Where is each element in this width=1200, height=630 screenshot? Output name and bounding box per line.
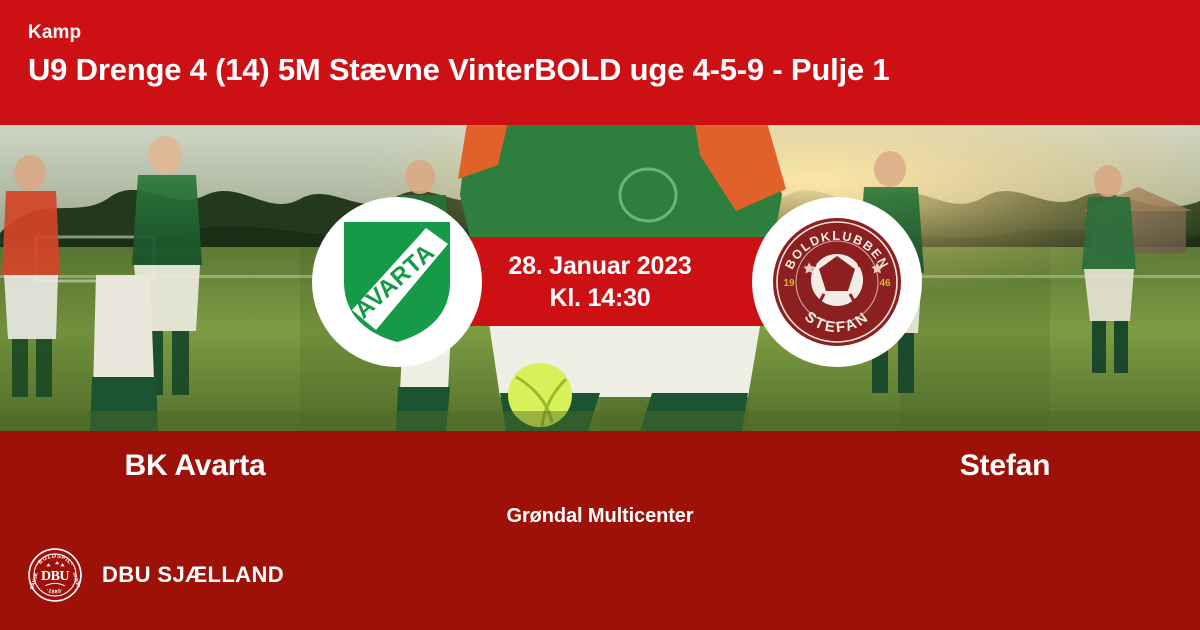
footer: ·BOLDSPIL· DBU ·1889· DANSK UNION DBU SJ… [28,545,284,605]
dbu-crest-icon: ·BOLDSPIL· DBU ·1889· DANSK UNION [28,548,82,602]
svg-text:·BOLDSPIL·: ·BOLDSPIL· [36,554,75,568]
match-venue: Grøndal Multicenter [0,505,1200,528]
svg-text:DBU: DBU [41,568,69,584]
away-team-crest: BOLDKLUBBEN STEFAN 19 46 [752,197,922,367]
footer-organisation: DBU SJÆLLAND [102,562,284,588]
home-team-crest: AVARTA [312,197,482,367]
match-poster: Kamp U9 Drenge 4 (14) 5M Stævne VinterBO… [0,0,1200,630]
avarta-shield-icon: AVARTA [338,218,456,346]
home-team-name: BK Avarta [0,449,600,483]
svg-text:·1889·: ·1889· [45,587,65,595]
poster-header: Kamp U9 Drenge 4 (14) 5M Stævne VinterBO… [0,0,1200,125]
match-time: Kl. 14:30 [549,282,650,314]
team-names-row: BK Avarta Stefan [0,431,1200,501]
page-title: U9 Drenge 4 (14) 5M Stævne VinterBOLD ug… [28,50,1172,90]
away-team-name: Stefan [600,449,1200,483]
match-date: 28. Januar 2023 [508,250,691,282]
header-eyebrow: Kamp [28,22,1172,44]
svg-text:19: 19 [783,278,795,289]
stefan-crest-icon: BOLDKLUBBEN STEFAN 19 46 [771,216,903,348]
svg-text:46: 46 [879,278,891,289]
